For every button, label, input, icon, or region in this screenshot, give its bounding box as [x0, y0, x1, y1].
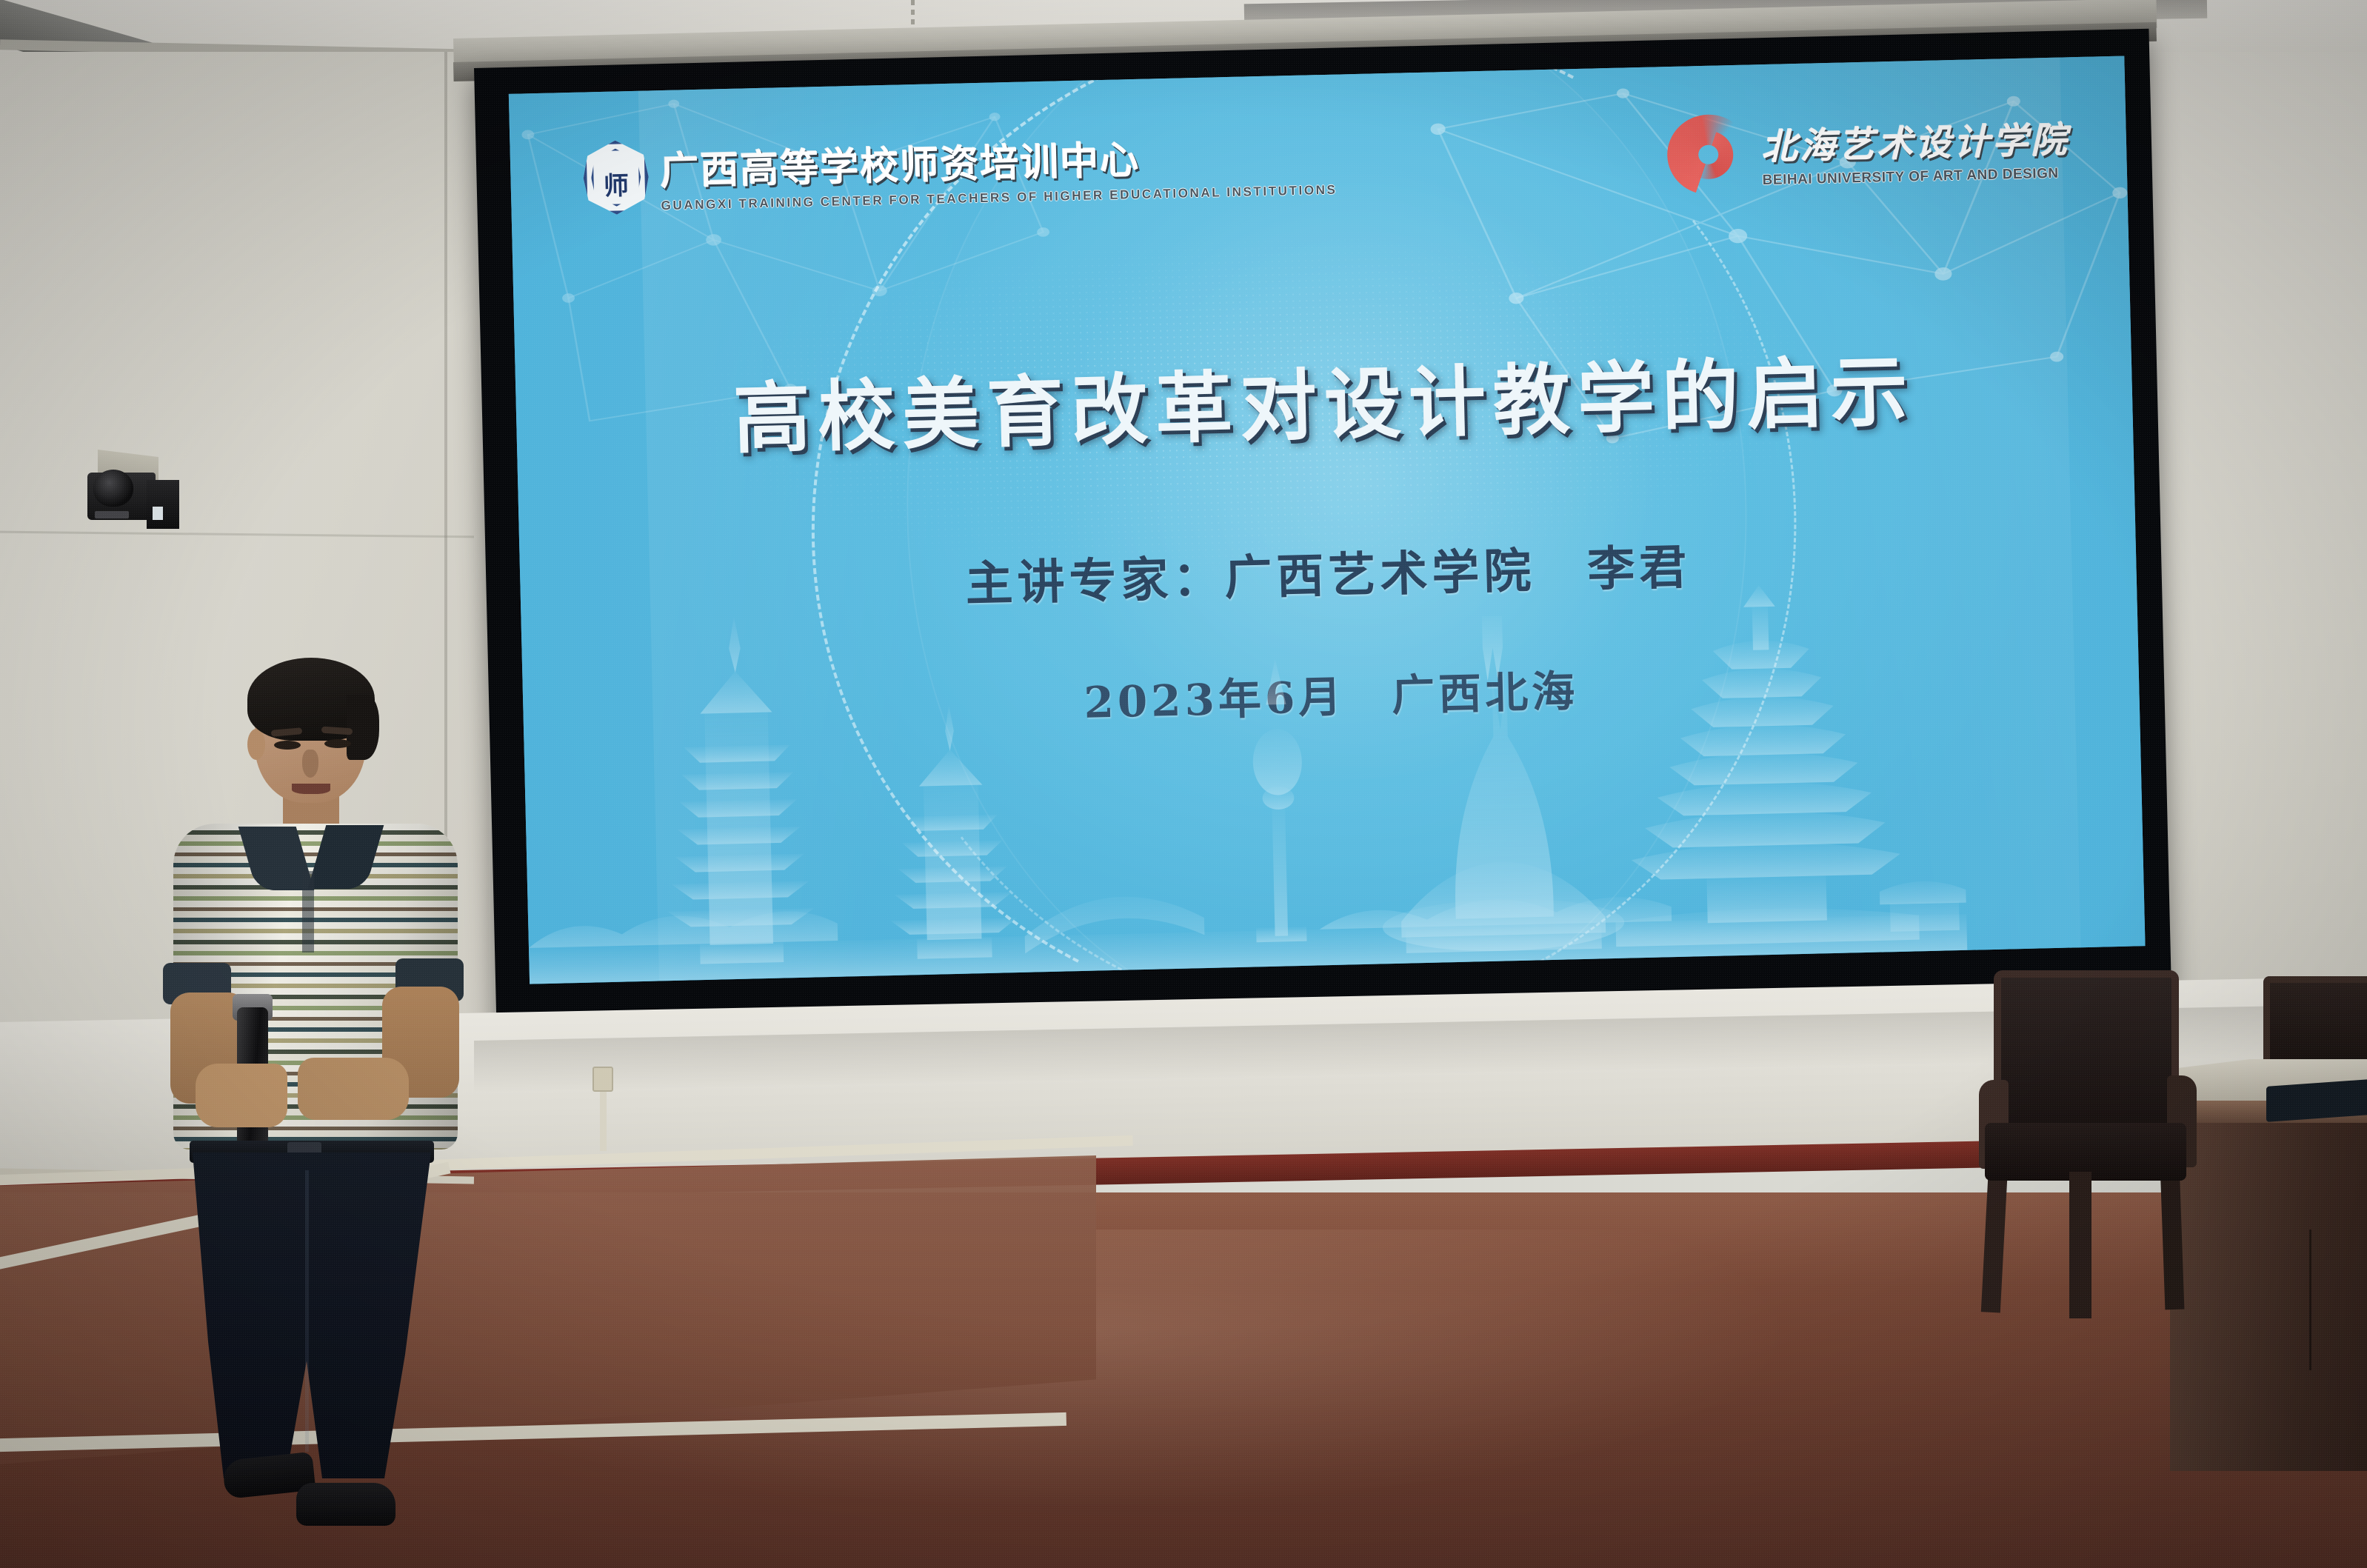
presenter — [160, 652, 471, 1541]
logo-right-name-en: BEIHAI UNIVERSITY OF ART AND DESIGN — [1762, 165, 2070, 189]
outlet-cord — [600, 1092, 607, 1151]
presenter-shoe-right — [296, 1483, 395, 1526]
presenter-mouth — [292, 784, 330, 794]
camera-lens-icon — [93, 470, 133, 507]
chair-leg-front — [2069, 1172, 2091, 1318]
riyue-pagoda-right — [886, 704, 1018, 960]
chair-leg-left — [1981, 1164, 2008, 1312]
camera-side-body — [147, 480, 179, 529]
presenter-eye-right — [324, 739, 351, 748]
presenter-hand-right — [298, 1058, 409, 1120]
presenter-eye-left — [274, 741, 301, 750]
wooden-armchair-front — [1976, 970, 2198, 1318]
logo-beihai-university: 北海艺术设计学院 BEIHAI UNIVERSITY OF ART AND DE… — [1666, 106, 2071, 196]
shirt-placket — [302, 871, 314, 953]
riyue-pagoda-left — [661, 615, 815, 964]
nanning-convention-center — [1375, 613, 1625, 954]
trouser-crease — [305, 1170, 309, 1452]
camera-led-icon — [153, 507, 163, 520]
projected-slide: 师 广西高等学校师资培训中心 GUANGXI TRAINING CENTER F… — [509, 56, 2146, 984]
projection-screen: 师 广西高等学校师资培训中心 GUANGXI TRAINING CENTER F… — [474, 29, 2171, 1031]
lecture-hall-room: 师 广西高等学校师资培训中心 GUANGXI TRAINING CENTER F… — [0, 0, 2367, 1568]
logo-right-text: 北海艺术设计学院 BEIHAI UNIVERSITY OF ART AND DE… — [1761, 110, 2071, 189]
dong-drum-tower — [1608, 581, 1920, 947]
presenter-hand-left — [196, 1064, 287, 1127]
guangxi-landmark-skyline-icon — [521, 576, 1967, 984]
red-swirl-icon — [1666, 114, 1752, 196]
photo-scene: 师 广西高等学校师资培训中心 GUANGXI TRAINING CENTER F… — [0, 0, 2367, 1568]
lectern-panel — [2309, 1230, 2367, 1370]
logo-left-text: 广西高等学校师资培训中心 GUANGXI TRAINING CENTER FOR… — [660, 124, 1338, 213]
chair-leg-right — [2160, 1164, 2185, 1310]
presenter-hair-side — [347, 695, 379, 760]
octagon-seal-shi-icon: 师 — [583, 140, 650, 216]
lectern-surface-item — [2266, 1079, 2367, 1122]
side-hall — [1880, 881, 1967, 933]
nanning-tv-tower — [1250, 658, 1307, 942]
camera-vent-strip — [95, 511, 129, 518]
presenter-ear-left — [247, 729, 265, 760]
chair-backrest — [1994, 970, 2179, 1133]
wall-outlet — [592, 1067, 613, 1092]
presenter-nose — [302, 750, 318, 778]
presenter-trousers — [182, 1152, 441, 1478]
seal-glyph: 师 — [583, 165, 649, 203]
logo-right-name-cn: 北海艺术设计学院 — [1761, 110, 2071, 170]
